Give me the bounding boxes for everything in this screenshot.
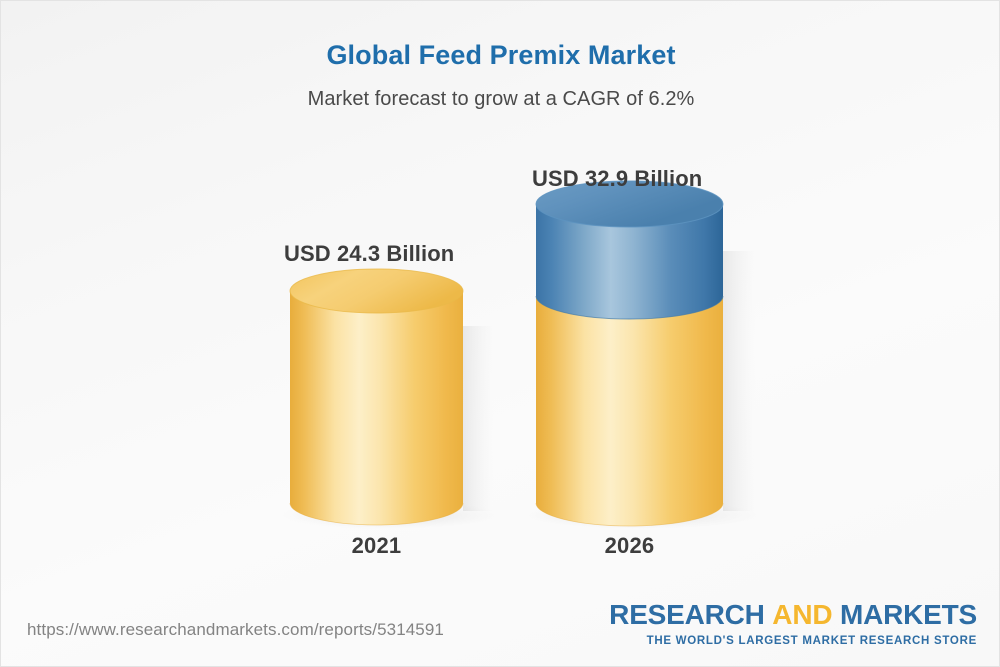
- logo-tagline: THE WORLD'S LARGEST MARKET RESEARCH STOR…: [609, 629, 977, 648]
- bar-side-shadow-2021: [463, 326, 493, 511]
- bar-side-shadow-2026: [723, 251, 755, 511]
- chart-header: Global Feed Premix Market Market forecas…: [1, 1, 1000, 111]
- bar-2021-body: [290, 291, 463, 525]
- chart-plot-area: USD 24.3 Billion USD 32.9 Billion 2021 2…: [1, 141, 1000, 581]
- bar-2021[interactable]: [290, 269, 463, 525]
- bar-category-label-2021: 2021: [290, 533, 463, 559]
- logo-word-and: AND: [772, 599, 832, 630]
- infographic-canvas: Global Feed Premix Market Market forecas…: [0, 0, 1000, 667]
- research-and-markets-logo[interactable]: RESEARCH AND MARKETS THE WORLD'S LARGEST…: [609, 601, 977, 648]
- bar-value-label-2021: USD 24.3 Billion: [284, 241, 454, 267]
- logo-word-research: RESEARCH: [609, 599, 765, 630]
- report-url[interactable]: https://www.researchandmarkets.com/repor…: [27, 620, 444, 640]
- bar-2026[interactable]: [536, 181, 723, 526]
- logo-word-markets: MARKETS: [840, 599, 977, 630]
- bar-2026-body-base: [536, 291, 723, 526]
- page-title: Global Feed Premix Market: [1, 39, 1000, 71]
- bar-value-label-2026: USD 32.9 Billion: [532, 166, 702, 192]
- logo-wordmark: RESEARCH AND MARKETS: [609, 601, 977, 629]
- bar-category-label-2026: 2026: [536, 533, 723, 559]
- cylinder-chart-graphic: [1, 141, 1000, 581]
- chart-subtitle: Market forecast to grow at a CAGR of 6.2…: [1, 71, 1000, 111]
